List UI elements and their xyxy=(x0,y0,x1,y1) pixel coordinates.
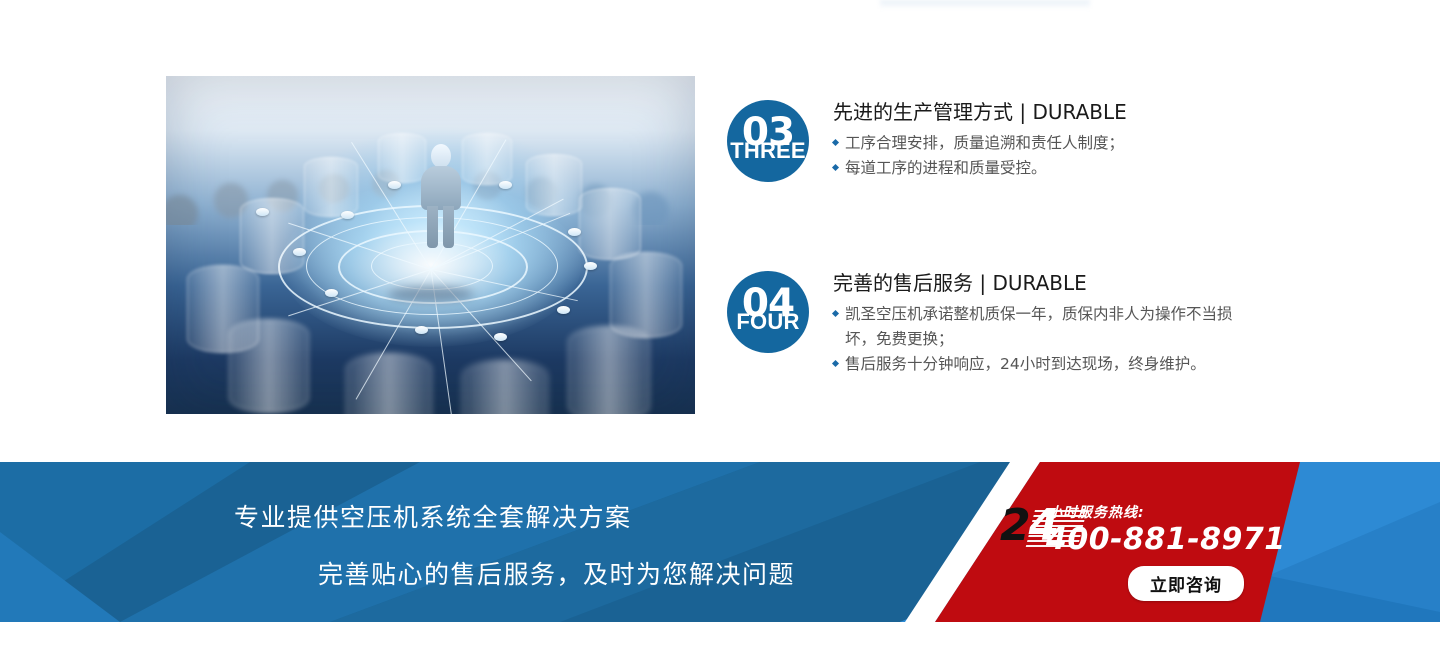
feature-bullet-list: 工序合理安排，质量追溯和责任人制度； 每道工序的进程和质量受控。 xyxy=(833,131,1253,181)
hotline-block: 24 小时服务热线: 400-881-8971 立即咨询 xyxy=(1000,500,1300,610)
consult-now-button[interactable]: 立即咨询 xyxy=(1128,566,1244,601)
feature-text-04: 完善的售后服务 | DURABLE 凯圣空压机承诺整机质保一年，质保内非人为操作… xyxy=(833,271,1253,377)
top-residue-strip xyxy=(880,0,1090,9)
cylinder-node xyxy=(568,326,650,414)
figure-head xyxy=(431,144,451,168)
feature-text-03: 先进的生产管理方式 | DURABLE 工序合理安排，质量追溯和责任人制度； 每… xyxy=(833,100,1253,181)
cylinder-node xyxy=(346,353,432,414)
network-node xyxy=(388,181,401,189)
network-node xyxy=(415,326,428,334)
network-node xyxy=(494,333,507,341)
badge-03: 03 THREE xyxy=(727,100,809,182)
feature-block-03: 03 THREE 先进的生产管理方式 | DURABLE 工序合理安排，质量追溯… xyxy=(727,100,1253,182)
list-item: 售后服务十分钟响应，24小时到达现场，终身维护。 xyxy=(833,352,1253,377)
cylinder-node xyxy=(229,319,309,413)
cylinder-node xyxy=(579,188,641,260)
figure-shadow xyxy=(388,286,474,302)
cylinder-node xyxy=(526,154,582,216)
figure-torso xyxy=(421,166,461,210)
figure-leg-right xyxy=(443,206,454,248)
central-person-figure xyxy=(420,144,462,248)
list-item: 凯圣空压机承诺整机质保一年，质保内非人为操作不当损坏，免费更换； xyxy=(833,302,1253,352)
network-node xyxy=(584,262,597,270)
feature-block-04: 04 FOUR 完善的售后服务 | DURABLE 凯圣空压机承诺整机质保一年，… xyxy=(727,271,1253,377)
slogan-line-1: 专业提供空压机系统全套解决方案 xyxy=(234,498,632,534)
feature-title: 完善的售后服务 | DURABLE xyxy=(833,271,1253,295)
figure-leg-left xyxy=(427,206,438,248)
feature-title: 先进的生产管理方式 | DURABLE xyxy=(833,100,1253,124)
cylinder-node xyxy=(610,252,682,338)
banner-slogan: 专业提供空压机系统全套解决方案 完善贴心的售后服务，及时为您解决问题 xyxy=(0,462,930,622)
network-node xyxy=(341,211,354,219)
hotline-digit-2: 2 xyxy=(1000,500,1029,551)
badge-word: THREE xyxy=(727,140,809,162)
hotline-number: 400-881-8971 xyxy=(1046,522,1286,557)
feature-image xyxy=(166,76,695,414)
cylinder-node xyxy=(304,157,358,217)
list-item: 每道工序的进程和质量受控。 xyxy=(833,156,1253,181)
network-node xyxy=(499,181,512,189)
badge-04: 04 FOUR xyxy=(727,271,809,353)
list-item: 工序合理安排，质量追溯和责任人制度； xyxy=(833,131,1253,156)
network-node xyxy=(325,289,338,297)
slogan-line-2: 完善贴心的售后服务，及时为您解决问题 xyxy=(318,555,795,591)
feature-bullet-list: 凯圣空压机承诺整机质保一年，质保内非人为操作不当损坏，免费更换； 售后服务十分钟… xyxy=(833,302,1253,377)
bottom-cta-banner: 专业提供空压机系统全套解决方案 完善贴心的售后服务，及时为您解决问题 24 小时… xyxy=(0,462,1440,622)
cylinder-node xyxy=(378,133,426,183)
network-node xyxy=(256,208,269,216)
cylinder-node xyxy=(462,360,548,414)
cylinder-node xyxy=(240,198,304,274)
hotline-label: 小时服务热线: xyxy=(1048,502,1145,522)
badge-word: FOUR xyxy=(727,311,809,333)
